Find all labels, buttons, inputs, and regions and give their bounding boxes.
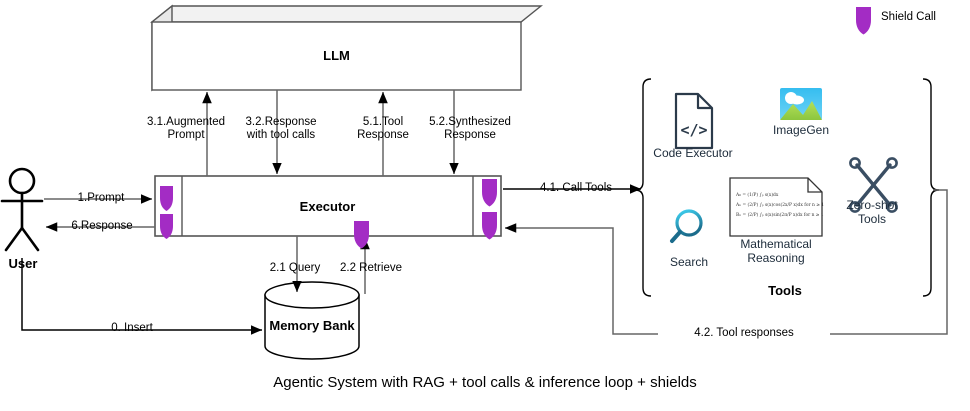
agentic-system-diagram: </> A₀ = (1/P) ∫ₚ s(x)dx Aₙ = (2/P) ∫ₚ s… [0, 0, 970, 411]
edge-label-51: 5.1.Tool Response [346, 116, 420, 142]
tool-label-imagegen: ImageGen [756, 123, 846, 137]
edge-label-31: 3.1.Augmented Prompt [143, 116, 229, 142]
memory-bank-label: Memory Bank [265, 318, 359, 333]
edge-label-0-insert: 0. Insert [62, 322, 202, 335]
user-label: User [0, 256, 46, 271]
edge-0-insert [22, 258, 262, 330]
tool-label-math-reasoning: Mathematical Reasoning [716, 237, 836, 265]
tool-label-search: Search [652, 255, 726, 269]
edge-label-32: 3.2.Response with tool calls [235, 116, 327, 142]
edge-label-41: 4.1. Call Tools [528, 182, 624, 195]
user-actor [2, 169, 42, 250]
svg-text:</>: </> [680, 121, 707, 139]
edge-label-6-response: 6.Response [52, 220, 152, 233]
diagram-caption: Agentic System with RAG + tool calls & i… [0, 374, 970, 391]
shield-icon [354, 221, 369, 249]
tool-label-code-executor: Code Executor [638, 146, 748, 160]
math-document-icon: A₀ = (1/P) ∫ₚ s(x)dx Aₙ = (2/P) ∫ₚ s(x)c… [730, 178, 824, 236]
llm-label: LLM [152, 48, 521, 63]
edge-label-22: 2.2 Retrieve [330, 262, 412, 275]
code-document-icon: </> [676, 94, 712, 148]
edge-label-21: 2.1 Query [260, 262, 330, 275]
tools-group-label: Tools [700, 283, 870, 298]
edge-label-52: 5.2.Synthesized Response [420, 116, 520, 142]
svg-text:A₀ = (1/P) ∫ₚ s(x)dx: A₀ = (1/P) ∫ₚ s(x)dx [735, 192, 779, 198]
magnifier-icon [672, 211, 701, 241]
shield-icon [856, 7, 871, 35]
svg-text:Bₙ = (2/P) ∫ₚ s(x)sin(2π/P x)d: Bₙ = (2/P) ∫ₚ s(x)sin(2π/P x)dx for n ≥ … [736, 212, 824, 218]
edge-label-42: 4.2. Tool responses [658, 327, 830, 340]
edge-label-1-prompt: 1.Prompt [52, 192, 150, 205]
legend-shield-label: Shield Call [881, 11, 936, 23]
image-icon [780, 88, 822, 120]
svg-text:Aₙ = (2/P) ∫ₚ s(x)cos(2x/P x)d: Aₙ = (2/P) ∫ₚ s(x)cos(2x/P x)dx for n ≥ … [735, 202, 824, 208]
executor-label: Executor [182, 199, 473, 214]
tool-label-zero-shot: Zero-shot Tools [832, 198, 912, 226]
